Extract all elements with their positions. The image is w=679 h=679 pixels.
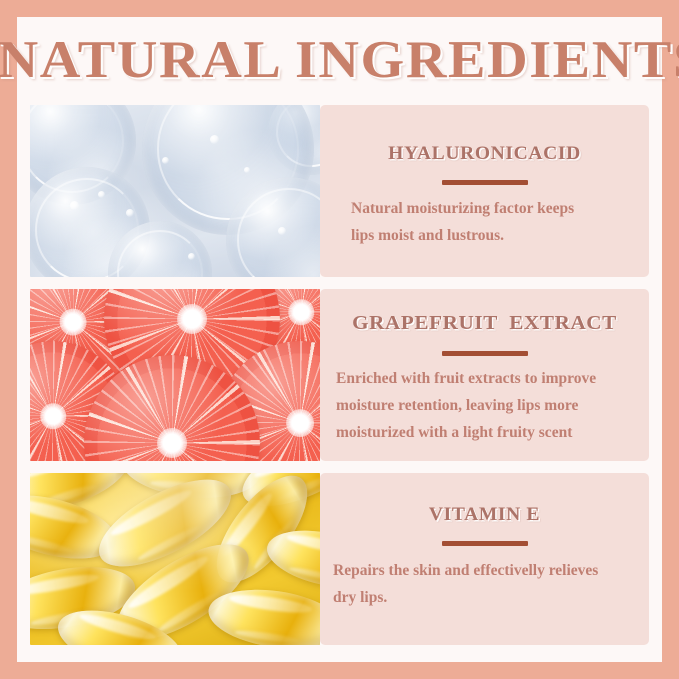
page-title: NATURAL INGREDIENTS	[0, 33, 679, 89]
poster-inner: NATURAL INGREDIENTS HYALURONICAC	[17, 17, 662, 662]
ingredient-heading: HYALURONICACID	[320, 143, 649, 165]
bubble-sparkle	[126, 209, 134, 217]
bubble-sparkle	[278, 227, 286, 235]
description-line: dry lips.	[333, 584, 641, 611]
ingredient-description: Enriched with fruit extracts to improve …	[336, 365, 639, 446]
ingredient-card-hyaluronic-acid: HYALURONICACID Natural moisturizing fact…	[320, 105, 649, 277]
ingredient-description: Repairs the skin and effectivelly reliev…	[333, 557, 641, 611]
poster-frame: NATURAL INGREDIENTS HYALURONICAC	[0, 0, 679, 679]
water-bubbles-photo	[30, 105, 320, 277]
vitamin-e-capsules-photo	[30, 473, 320, 645]
description-line: Repairs the skin and effectivelly reliev…	[333, 557, 641, 584]
bubble-sparkle	[188, 253, 195, 260]
description-line: Natural moisturizing factor keeps	[351, 195, 633, 222]
ingredient-row-hyaluronic-acid: HYALURONICACID Natural moisturizing fact…	[30, 105, 649, 277]
heading-divider	[442, 180, 528, 185]
grapefruit-slices-photo	[30, 289, 320, 461]
ingredient-row-grapefruit-extract: GRAPEFRUIT EXTRACT Enriched with fruit e…	[30, 289, 649, 461]
ingredient-card-grapefruit-extract: GRAPEFRUIT EXTRACT Enriched with fruit e…	[320, 289, 649, 461]
description-line: lips moist and lustrous.	[351, 222, 633, 249]
description-line: Enriched with fruit extracts to improve	[336, 365, 639, 392]
ingredient-card-vitamin-e: VITAMIN E Repairs the skin and effective…	[320, 473, 649, 645]
bubble-sparkle	[244, 167, 250, 173]
heading-divider	[442, 541, 528, 546]
description-line: moisturized with a light fruity scent	[336, 419, 639, 446]
ingredient-row-vitamin-e: VITAMIN E Repairs the skin and effective…	[30, 473, 649, 645]
ingredient-description: Natural moisturizing factor keeps lips m…	[351, 195, 633, 249]
description-line: moisture retention, leaving lips more	[336, 392, 639, 419]
bubble-sparkle	[98, 191, 105, 198]
ingredient-heading: VITAMIN E	[320, 504, 649, 526]
bubble-sparkle	[210, 135, 219, 144]
heading-divider	[442, 351, 528, 356]
bubble-sparkle	[162, 157, 169, 164]
ingredient-heading: GRAPEFRUIT EXTRACT	[320, 312, 649, 335]
bubble-sparkle	[70, 201, 79, 210]
